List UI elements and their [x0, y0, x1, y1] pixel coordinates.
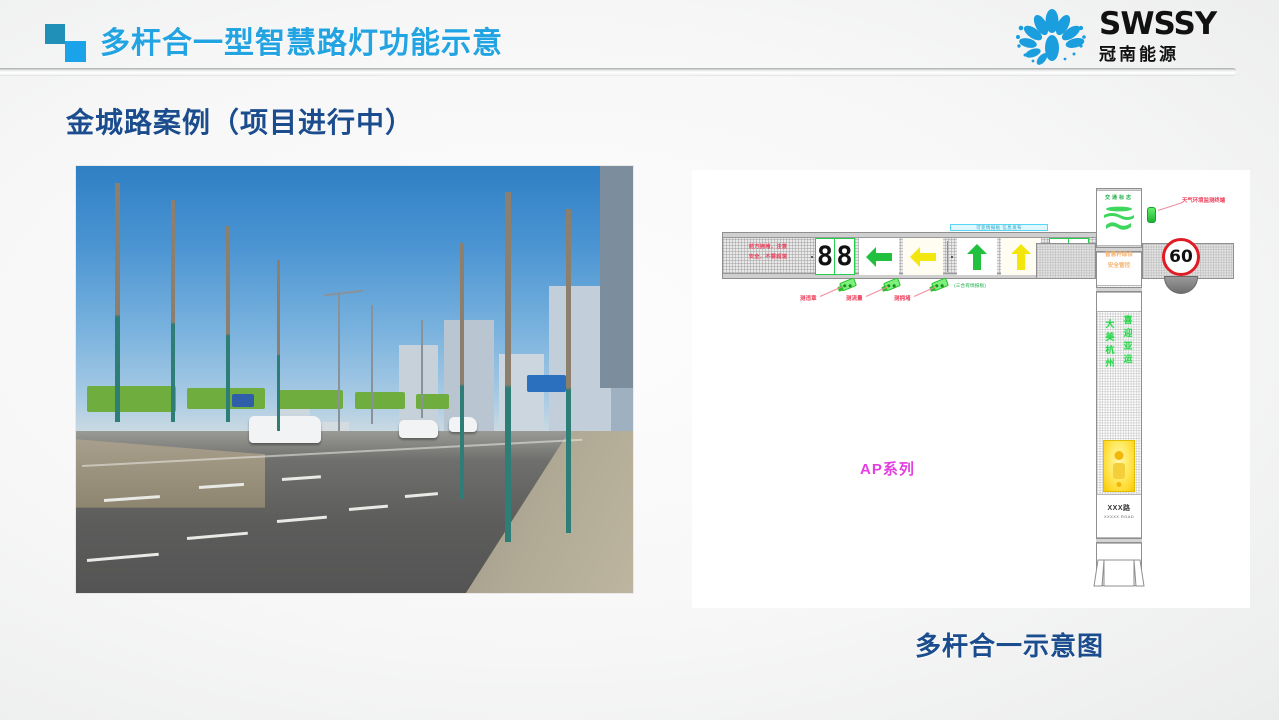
- lane-arrow-left-yellow: [903, 238, 943, 275]
- lane-marker-dot: [811, 256, 813, 258]
- traffic-camera-icon: [883, 277, 901, 291]
- pole-blank-panel: [1097, 292, 1141, 312]
- multi-pole-integration-schematic: 前方拥堵，注意 安全，不要超速 8 8: [692, 170, 1250, 608]
- dome-camera-icon: [1164, 276, 1198, 294]
- road-name-subtext: XXXXX ROAD: [1099, 514, 1139, 519]
- led-info-screen: [1103, 440, 1135, 492]
- photo-road-sign: [232, 394, 254, 407]
- photo-tree: [277, 260, 280, 431]
- photo-truck: [277, 390, 344, 409]
- photo-tree: [460, 243, 464, 499]
- lane-marker-dot: [951, 256, 953, 258]
- section-title: 金城路案例（项目进行中）: [66, 101, 414, 141]
- photo-street-lamp: [338, 294, 340, 431]
- camera-label: 测拥堵: [894, 294, 911, 302]
- jincheng-road-site-photo: [76, 166, 633, 593]
- header-decoration-squares: [45, 24, 91, 62]
- camera-label: 测违章: [800, 294, 817, 302]
- square-dark-icon: [45, 24, 65, 44]
- traffic-camera-icon: [839, 277, 857, 291]
- pole-ad-text: 智慧杆综合 安全管控: [1100, 250, 1138, 272]
- pole-left-arm: [1036, 243, 1096, 279]
- vms-top-strip-label: 可变情报板 信息发布: [950, 224, 1048, 231]
- header-divider: [0, 68, 1236, 75]
- leader-line: [914, 286, 936, 297]
- photo-truck: [355, 392, 405, 409]
- photo-tree: [505, 192, 511, 542]
- photo-car-white: [399, 420, 438, 438]
- pole-head-text: 交通标志: [1100, 194, 1138, 201]
- pole-banner-right: 喜迎亚运: [1121, 314, 1135, 366]
- weather-sensor-label: 天气环境监测终端: [1182, 196, 1225, 204]
- pole-base-foot: [1092, 558, 1146, 588]
- countdown-digit: 8: [816, 239, 835, 274]
- weather-sensor-icon: [1147, 207, 1156, 223]
- traffic-camera-icon: [931, 277, 949, 291]
- countdown-display-left: 8 8: [815, 238, 855, 275]
- pole-banner-left: 大美杭州: [1103, 318, 1117, 370]
- photo-road-sign: [527, 375, 566, 392]
- logo-brand-latin: SWSSY: [1099, 9, 1216, 40]
- speed-limit-sign: 60: [1162, 238, 1200, 276]
- photo-street-lamp: [421, 320, 423, 418]
- camera-label: 测流量: [846, 294, 863, 302]
- slide-header: 多杆合一型智慧路灯功能示意: [0, 0, 1279, 74]
- camera-note: (三合有情报板): [954, 282, 986, 289]
- logo-text-block: SWSSY 冠南能源: [1099, 9, 1216, 63]
- lane-arrow-left-green: [859, 238, 899, 275]
- photo-car-white: [249, 416, 321, 443]
- photo-street-lamp: [371, 305, 373, 425]
- road-name-text: XXX路: [1099, 503, 1139, 513]
- lane-separator: [947, 241, 948, 272]
- company-logo: SWSSY 冠南能源: [1011, 6, 1261, 68]
- pole-green-graphic-icon: [1101, 204, 1137, 234]
- square-light-icon: [65, 41, 86, 62]
- leader-line: [1158, 202, 1183, 211]
- water-droplet-flower-logo-icon: [1011, 8, 1093, 66]
- vms-message-text: 前方拥堵，注意 安全，不要超速: [729, 243, 807, 263]
- ap-series-label: AP系列: [860, 458, 915, 479]
- lane-arrow-up-yellow: [1001, 238, 1041, 275]
- photo-truck: [87, 386, 176, 412]
- diagram-caption: 多杆合一示意图: [915, 626, 1104, 663]
- photo-tree: [115, 183, 120, 422]
- leader-line: [866, 286, 888, 297]
- smart-pole: 交通标志 智慧杆综合 安全管控 大美杭州 喜迎亚运: [1096, 188, 1142, 586]
- page-title: 多杆合一型智慧路灯功能示意: [100, 18, 503, 62]
- lane-arrow-up-green: [957, 238, 997, 275]
- logo-brand-chinese: 冠南能源: [1099, 46, 1216, 63]
- photo-tree: [226, 226, 230, 422]
- photo-tree: [171, 200, 175, 422]
- photo-tree: [566, 209, 571, 534]
- countdown-digit: 8: [835, 239, 854, 274]
